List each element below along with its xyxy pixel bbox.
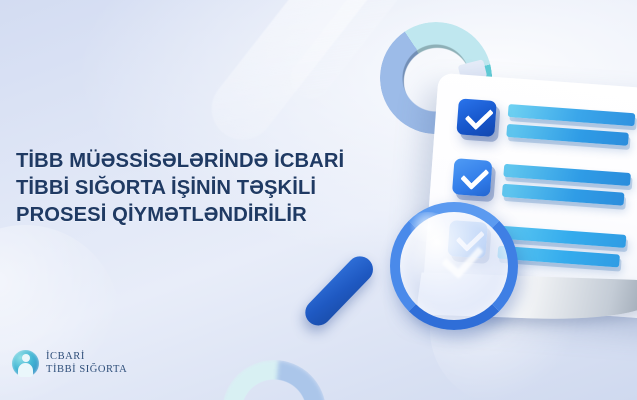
checkbox-checked-icon bbox=[452, 158, 493, 197]
checklist-row bbox=[456, 98, 635, 147]
page-title: TİBB MÜƏSSİSƏLƏRİNDƏ İCBARİ TİBBİ SIĞORT… bbox=[16, 148, 372, 229]
background-donut-chart-icon bbox=[222, 360, 326, 400]
text-bar bbox=[503, 164, 631, 186]
text-bar bbox=[506, 124, 629, 146]
text-bar bbox=[502, 184, 625, 206]
checklist-text-bars bbox=[506, 102, 635, 146]
person-in-circle-icon bbox=[12, 350, 39, 377]
brand-logo-text: İCBARİ TİBBİ SIĞORTA bbox=[46, 351, 127, 377]
brand-logo-line-2: TİBBİ SIĞORTA bbox=[46, 364, 127, 377]
headline-line-2: TİBBİ SIĞORTA İŞİNİN TƏŞKİLİ bbox=[16, 175, 372, 202]
magnifier-glare bbox=[406, 212, 450, 242]
headline-line-3: PROSESİ QİYMƏTLƏNDİRİLİR bbox=[16, 202, 372, 229]
check-tick bbox=[465, 101, 494, 130]
brand-logo: İCBARİ TİBBİ SIĞORTA bbox=[12, 350, 127, 377]
text-bar bbox=[508, 104, 636, 126]
brand-logo-line-1: İCBARİ bbox=[46, 351, 127, 364]
headline-line-1: TİBB MÜƏSSİSƏLƏRİNDƏ İCBARİ bbox=[16, 148, 372, 175]
check-tick bbox=[460, 161, 489, 190]
text-bar bbox=[499, 226, 627, 248]
promo-banner: TİBB MÜƏSSİSƏLƏRİNDƏ İCBARİ TİBBİ SIĞORT… bbox=[0, 0, 637, 400]
magnifier-handle bbox=[300, 251, 378, 331]
checkbox-checked-icon bbox=[456, 98, 497, 137]
magnifying-glass-icon bbox=[352, 196, 502, 346]
checklist-text-bars bbox=[502, 162, 631, 206]
